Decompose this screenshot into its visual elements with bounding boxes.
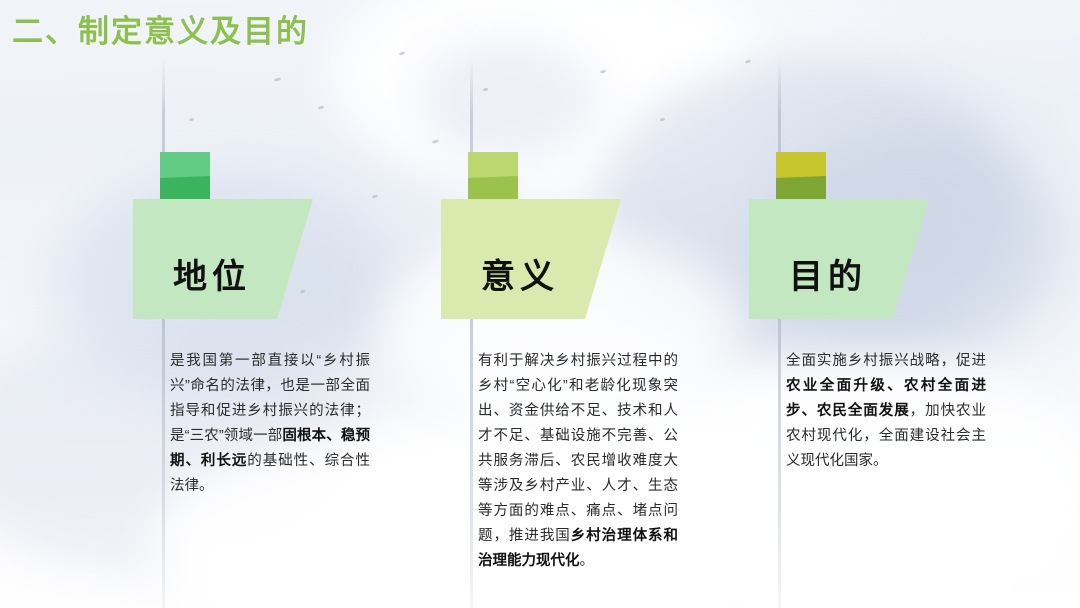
ribbon-icon xyxy=(468,152,530,200)
slide-canvas: 二、制定意义及目的 地位 是我国第一部直接以“乡村振兴”命名的法律，也是一部全面… xyxy=(0,0,1080,608)
bird-speck xyxy=(660,117,666,121)
body-text-purpose: 全面实施乡村振兴战略，促进农业全面升级、农村全面进步、农民全面发展，加快农业农村… xyxy=(786,349,986,474)
banner-label: 意义 xyxy=(481,249,559,298)
body-run: 有利于解决乡村振兴过程中的乡村“空心化”和老龄化现象突出、资金供给不足、技术和人… xyxy=(478,353,678,544)
bird-speck xyxy=(600,69,607,74)
banner-label: 目的 xyxy=(789,249,867,298)
flag-banner-purpose: 目的 xyxy=(749,199,929,319)
cloud-blob xyxy=(420,40,600,160)
body-run: 全面实施乡村振兴战略，促进 xyxy=(786,353,986,369)
flag-column-purpose: 目的 全面实施乡村振兴战略，促进农业全面升级、农村全面进步、农民全面发展，加快农… xyxy=(0,0,330,608)
ribbon-icon xyxy=(776,152,838,200)
bird-speck xyxy=(399,51,406,56)
body-text-significance: 有利于解决乡村振兴过程中的乡村“空心化”和老龄化现象突出、资金供给不足、技术和人… xyxy=(478,349,678,574)
bird-speck xyxy=(745,59,752,64)
flag-pole xyxy=(778,60,781,608)
bird-speck xyxy=(372,194,379,199)
ribbon-fold xyxy=(776,152,838,200)
bird-speck xyxy=(483,87,489,91)
flag-pole xyxy=(470,60,473,608)
bird-speck xyxy=(432,139,440,144)
cloud-blob xyxy=(330,0,760,190)
body-run: 。 xyxy=(580,553,595,569)
flag-banner-significance: 意义 xyxy=(441,199,621,319)
ribbon-fold xyxy=(468,152,530,200)
